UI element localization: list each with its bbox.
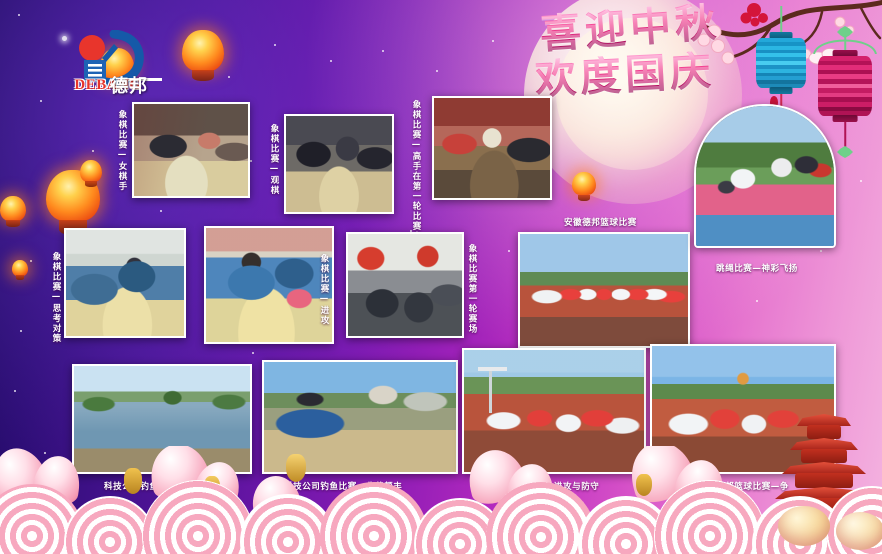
lantern-hanger-arc [810,32,880,54]
lotus-seedpod [124,468,142,494]
photo-jumprope[interactable] [694,104,836,248]
caption-chess-thinking: 象棋比赛—思考对策 [50,252,62,336]
lotus-seedpod [636,474,652,496]
photo-chess-spectators[interactable] [284,114,394,214]
sky-lantern-icon [572,172,596,202]
lotus-accent [778,506,830,546]
sky-lantern-icon [80,160,102,188]
sky-lantern-icon [182,30,224,82]
photo-chess-venue-round-one[interactable] [346,232,464,338]
logo-wordmark: DEBANG [44,77,172,94]
caption-chess-female-player: 象棋比赛—女棋手 [116,110,128,194]
bottom-lotus-decoration [0,446,882,554]
photo-chess-attack[interactable] [204,226,334,344]
caption-chess-round-one-final: 象棋比赛—高手在第一轮比赛中决 [410,100,422,204]
paper-lantern-blue [756,32,806,94]
caption-jumprope: 跳绳比赛—神彩飞扬 [716,262,798,274]
photo-chess-thinking[interactable] [64,228,186,338]
photo-chess-female-player[interactable] [132,102,250,198]
caption-chess-spectators: 象棋比赛—观棋 [268,124,280,204]
caption-chess-venue-round-one: 象棋比赛第一轮赛场 [466,244,478,348]
lotus-accent [836,512,882,550]
sky-lantern-icon [0,196,26,228]
photo-basketball-team[interactable] [518,232,690,348]
festival-poster: 喜迎中秋 欢度国庆 DEBANG 德邦 象棋比赛—女棋手 象棋比赛—观棋 象棋 [0,0,882,554]
caption-chess-attack: 象棋比赛—进攻 [318,254,330,334]
caption-basketball-team: 安徽德邦篮球比赛 [564,216,637,228]
sky-lantern-icon [12,260,28,280]
debang-logo: DEBANG 德邦 [44,30,172,92]
title-line-2: 欢度国庆 [507,49,743,102]
lotus-swirl [320,482,428,554]
photo-chess-round-one-final[interactable] [432,96,552,200]
logo-chinese-name: 德邦 [110,72,148,98]
poster-title: 喜迎中秋 欢度国庆 [512,8,742,108]
chinese-knot-icon [837,146,853,158]
lotus-seedpod [286,454,306,482]
